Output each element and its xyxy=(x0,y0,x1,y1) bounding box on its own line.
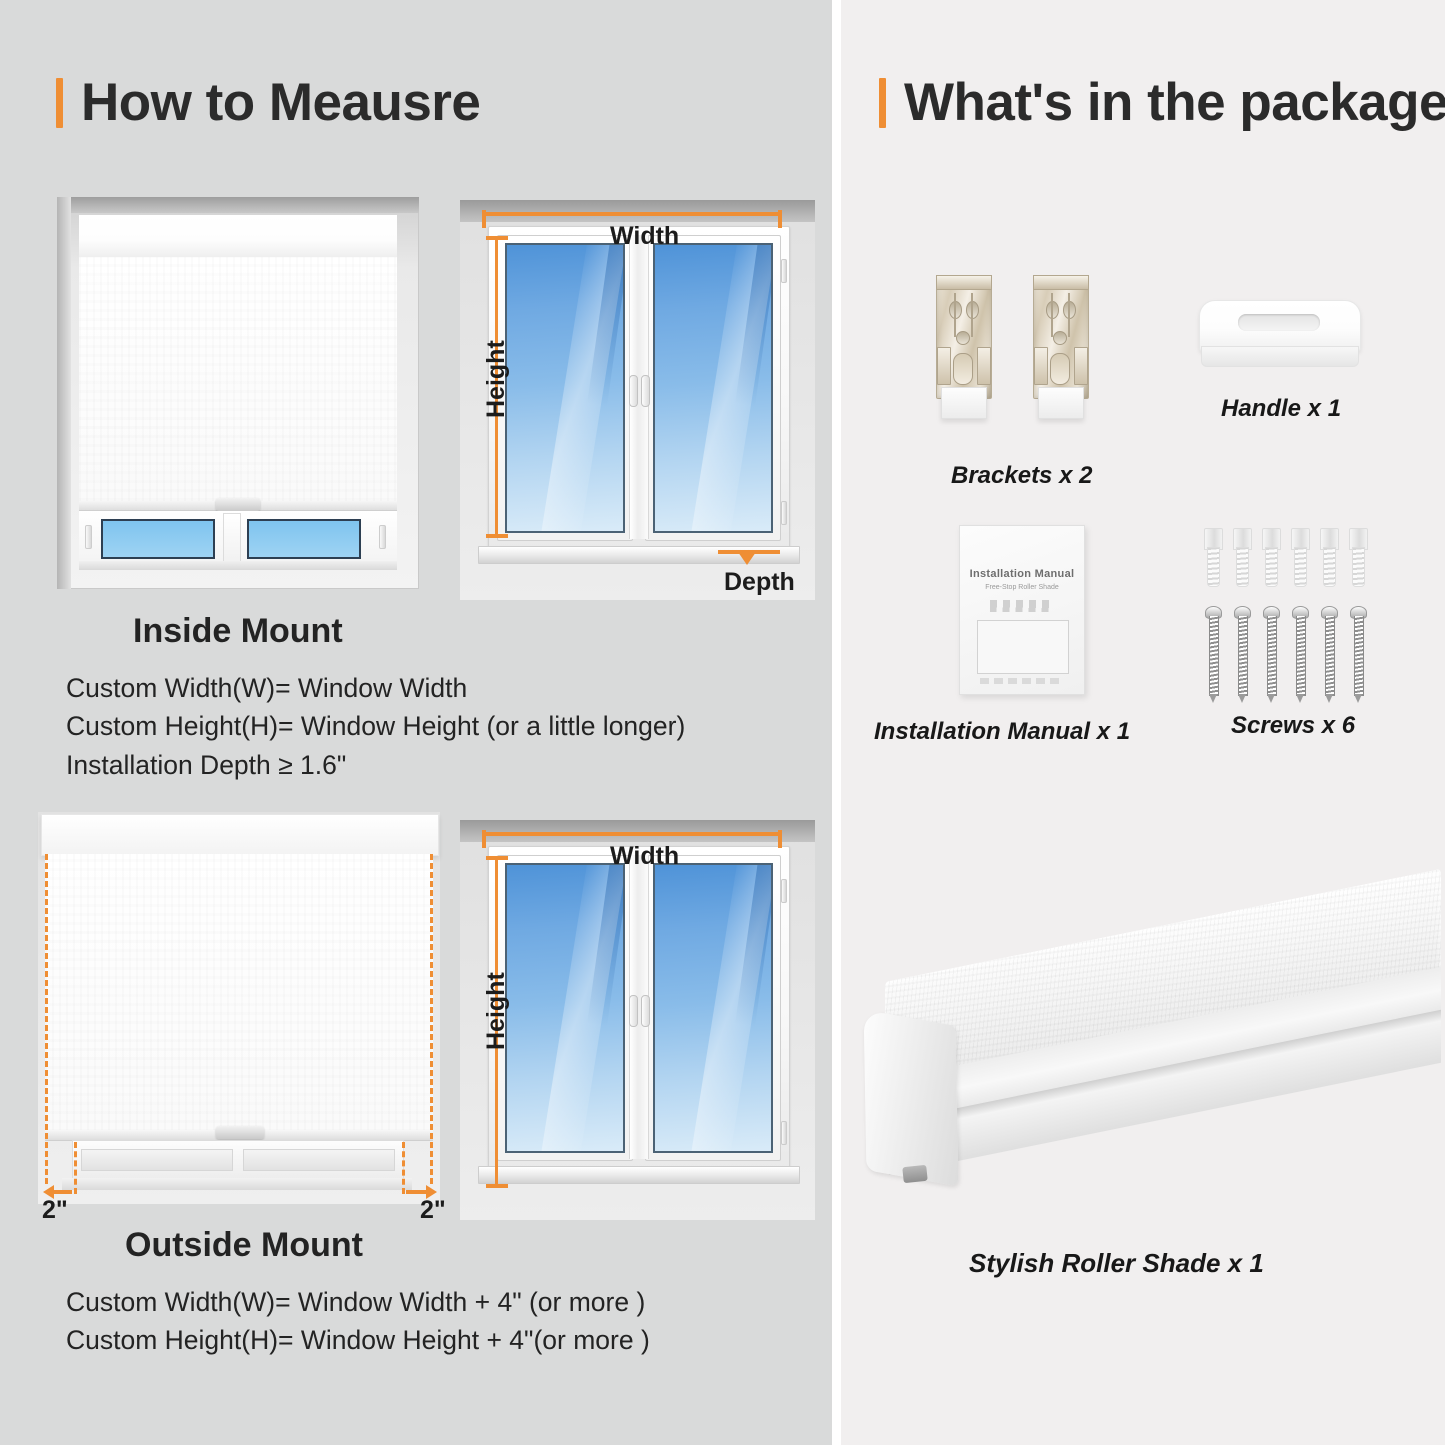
manual-cover-figure xyxy=(977,620,1069,674)
height-cap-bottom xyxy=(486,1184,508,1188)
shade-pull-handle xyxy=(216,1126,264,1139)
bracket-groove-right xyxy=(1068,293,1070,337)
handle-base xyxy=(1201,346,1359,367)
outside-mount-line-1: Custom Width(W)= Window Width + 4" (or m… xyxy=(66,1284,650,1320)
window-hinge-left xyxy=(85,525,92,549)
window-handle-left xyxy=(629,375,638,407)
screw-shaft xyxy=(1296,616,1306,696)
package-contents-panel: What's in the package xyxy=(841,0,1445,1445)
anchor-body xyxy=(1294,547,1307,587)
anchor-body xyxy=(1265,547,1278,587)
accent-bar-icon xyxy=(56,78,63,128)
manual-cover-title: Installation Manual xyxy=(960,568,1084,580)
handle-label: Handle x 1 xyxy=(1221,395,1341,423)
bracket-lip xyxy=(1033,275,1089,290)
inside-mount-title: Inside Mount xyxy=(133,612,343,651)
roller-shade-end-cap xyxy=(864,1010,959,1187)
inside-mount-line-2: Custom Height(H)= Window Height (or a li… xyxy=(66,708,685,744)
recess-top-shadow xyxy=(57,197,419,213)
depth-arrow-icon xyxy=(738,552,756,565)
height-cap-top xyxy=(486,236,508,240)
window-sash-left xyxy=(81,1149,233,1171)
accent-bar-icon xyxy=(879,78,886,128)
window-frame xyxy=(72,1140,404,1182)
outside-mount-shade-illustration xyxy=(38,812,440,1204)
how-to-measure-heading: How to Meausre xyxy=(56,76,480,129)
overhang-guide-left xyxy=(45,854,48,1184)
overhang-guide-right xyxy=(430,854,433,1184)
outside-mount-window-diagram: Width Height xyxy=(460,820,815,1220)
width-cap-left xyxy=(482,830,486,848)
window-header-beam xyxy=(460,200,815,222)
window-hinge-top xyxy=(781,879,787,903)
window-hinge-bottom xyxy=(781,501,787,525)
anchor-body xyxy=(1236,547,1249,587)
window-sash-right xyxy=(645,235,781,541)
screw-tip xyxy=(1296,694,1304,703)
screw-shaft xyxy=(1354,616,1364,696)
inside-mount-description: Custom Width(W)= Window Width Custom Hei… xyxy=(66,670,685,785)
bracket-foot xyxy=(1038,387,1084,419)
bracket-tab-left xyxy=(937,347,951,385)
window-edge-guide-left xyxy=(74,1142,77,1194)
page-title: How to Meausre xyxy=(81,76,480,129)
bracket-tab-right xyxy=(977,347,991,385)
screw-tip xyxy=(1238,694,1246,703)
overhang-measure-left: 2" xyxy=(42,1196,68,1225)
bracket-groove-left xyxy=(954,293,956,337)
screw-tip xyxy=(1267,694,1275,703)
window-sill xyxy=(62,1178,412,1190)
shade-valance xyxy=(79,215,397,258)
height-cap-top xyxy=(486,856,508,860)
anchor-body xyxy=(1352,547,1365,587)
screw-6 xyxy=(1350,606,1365,702)
roller-shade-metal-clip xyxy=(902,1165,928,1183)
window-sash-left xyxy=(497,855,633,1161)
window-frame xyxy=(488,226,790,550)
handle-image xyxy=(1199,300,1359,368)
window-bottom-area xyxy=(79,511,397,570)
wall-anchor-1 xyxy=(1204,528,1221,586)
overhang-measure-right: 2" xyxy=(420,1196,446,1225)
shade-valance xyxy=(41,814,439,856)
window-hinge-right xyxy=(379,525,386,549)
window-sash-right xyxy=(645,855,781,1161)
glass-pane-right xyxy=(653,863,773,1153)
manual-cover-lines xyxy=(990,600,1054,612)
screw-tip xyxy=(1325,694,1333,703)
window-header-beam xyxy=(460,820,815,842)
bracket-lip xyxy=(936,275,992,290)
window-sash-right xyxy=(243,1149,395,1171)
outside-mount-description: Custom Width(W)= Window Width + 4" (or m… xyxy=(66,1284,650,1361)
screw-tip xyxy=(1209,694,1217,703)
wall-anchor-2 xyxy=(1233,528,1250,586)
bracket-tab-left xyxy=(1034,347,1048,385)
screw-2 xyxy=(1234,606,1249,702)
window-handle-left xyxy=(629,995,638,1027)
inside-mount-shade-illustration xyxy=(57,197,419,589)
width-cap-right xyxy=(778,830,782,848)
overhang-arrow-right xyxy=(406,1190,428,1194)
inside-mount-window-diagram: Width Height Depth xyxy=(460,200,815,600)
manual-cover-footer xyxy=(980,678,1064,684)
window-frame xyxy=(488,846,790,1170)
window-sill-edge xyxy=(79,561,397,570)
screw-shaft xyxy=(1209,616,1219,696)
recess-inner xyxy=(79,215,397,570)
wall-anchor-6 xyxy=(1349,528,1366,586)
brackets-label: Brackets x 2 xyxy=(951,462,1092,490)
window-hinge-top xyxy=(781,259,787,283)
height-label: Height xyxy=(482,972,511,1050)
window-handle-right xyxy=(641,375,650,407)
width-label: Width xyxy=(610,842,679,871)
bracket-groove-right xyxy=(971,293,973,337)
installation-manual-label: Installation Manual x 1 xyxy=(874,718,1130,746)
window-sash-left xyxy=(497,235,633,541)
window-edge-guide-right xyxy=(402,1142,405,1194)
wall-anchor-4 xyxy=(1291,528,1308,586)
glass-pane-left xyxy=(101,519,215,559)
screw-shaft xyxy=(1325,616,1335,696)
width-cap-right xyxy=(778,210,782,228)
panel-divider xyxy=(832,0,841,1445)
screw-5 xyxy=(1321,606,1336,702)
screws-image xyxy=(1204,528,1384,693)
outside-mount-title: Outside Mount xyxy=(125,1226,363,1265)
screw-4 xyxy=(1292,606,1307,702)
how-to-measure-panel: How to Meausre xyxy=(0,0,832,1445)
handle-top xyxy=(1199,300,1361,352)
roller-shade-body xyxy=(859,890,1439,1220)
package-heading: What's in the package xyxy=(879,76,1445,129)
height-label: Height xyxy=(482,340,511,418)
bracket-hole-c xyxy=(1053,331,1067,345)
glass-pane-right xyxy=(653,243,773,533)
handle-grip-cutout xyxy=(1238,314,1320,331)
glass-pane-left xyxy=(505,243,625,533)
anchor-body xyxy=(1207,547,1220,587)
bracket-1-image xyxy=(933,275,993,420)
wall-anchor-3 xyxy=(1262,528,1279,586)
bracket-foot xyxy=(941,387,987,419)
screws-label: Screws x 6 xyxy=(1231,712,1355,740)
window-sill xyxy=(478,1166,800,1184)
bracket-slot xyxy=(1050,353,1070,385)
width-cap-left xyxy=(482,210,486,228)
window-handle-right xyxy=(641,995,650,1027)
inside-mount-line-1: Custom Width(W)= Window Width xyxy=(66,670,685,706)
bracket-2-image xyxy=(1030,275,1090,420)
window-hinge-bottom xyxy=(781,1121,787,1145)
wall-anchor-5 xyxy=(1320,528,1337,586)
roller-shade-image xyxy=(841,880,1445,1230)
width-dimension-line xyxy=(482,832,782,836)
screw-3 xyxy=(1263,606,1278,702)
bracket-slot xyxy=(953,353,973,385)
infographic-page: How to Meausre xyxy=(0,0,1445,1445)
manual-cover-subtitle: Free-Stop Roller Shade xyxy=(960,584,1084,591)
screw-shaft xyxy=(1267,616,1277,696)
outside-mount-line-2: Custom Height(H)= Window Height + 4"(or … xyxy=(66,1322,650,1358)
inside-mount-line-3: Installation Depth ≥ 1.6" xyxy=(66,747,685,783)
anchor-body xyxy=(1323,547,1336,587)
width-dimension-line xyxy=(482,212,782,216)
screw-shaft xyxy=(1238,616,1248,696)
bracket-groove-left xyxy=(1051,293,1053,337)
screw-1 xyxy=(1205,606,1220,702)
shade-fabric xyxy=(79,257,397,501)
bracket-tab-right xyxy=(1074,347,1088,385)
shade-fabric xyxy=(45,854,433,1132)
installation-manual-image: Installation Manual Free-Stop Roller Sha… xyxy=(959,525,1085,695)
bracket-hole-c xyxy=(956,331,970,345)
shade-pull-handle xyxy=(216,498,260,511)
roller-shade-label: Stylish Roller Shade x 1 xyxy=(969,1248,1264,1279)
depth-label: Depth xyxy=(724,568,795,597)
screw-tip xyxy=(1354,694,1362,703)
glass-pane-right xyxy=(247,519,361,559)
package-title: What's in the package xyxy=(904,76,1445,129)
height-cap-bottom xyxy=(486,534,508,538)
glass-pane-left xyxy=(505,863,625,1153)
window-mullion xyxy=(223,513,241,567)
recess-side-shadow xyxy=(57,197,71,589)
width-label: Width xyxy=(610,222,679,251)
